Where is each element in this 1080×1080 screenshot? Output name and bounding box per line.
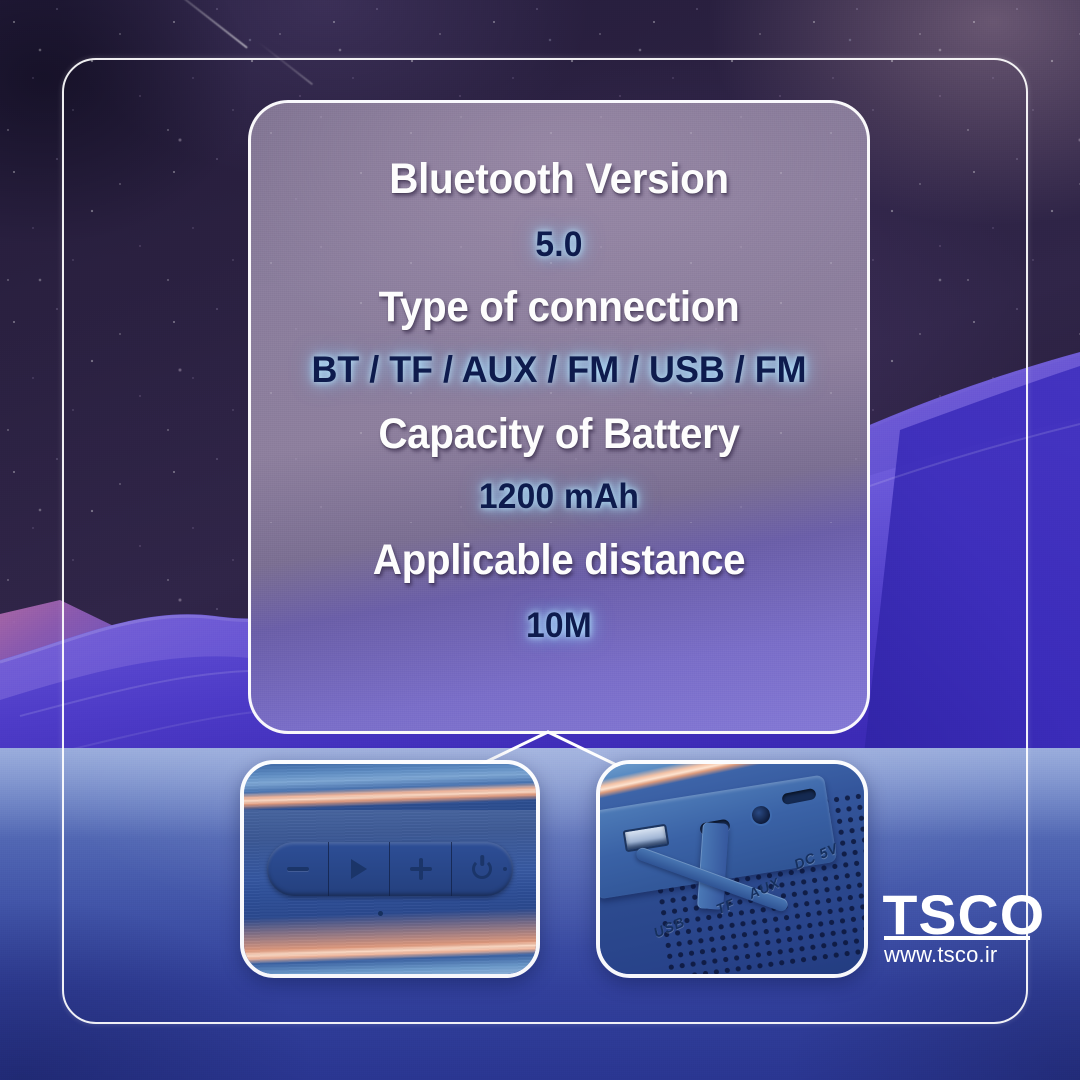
- spec-value-capacity-of-battery: 1200 mAh: [281, 479, 838, 516]
- logo-wordmark: TSCO: [883, 888, 1036, 942]
- minus-icon: [287, 867, 309, 871]
- photo-speaker-port-panel: USB TF AUX DC 5V: [596, 760, 868, 978]
- poster-canvas: Bluetooth Version 5.0 Type of connection…: [0, 0, 1080, 1080]
- spec-value-applicable-distance: 10M: [281, 608, 838, 645]
- spec-label-bluetooth-version: Bluetooth Version: [286, 157, 831, 203]
- photo-speaker-control-panel: [240, 760, 540, 978]
- brand-logo: TSCO www.tsco.ir: [884, 888, 1034, 968]
- volume-up-button[interactable]: [390, 842, 452, 897]
- power-icon: [472, 859, 492, 879]
- spec-label-capacity-of-battery: Capacity of Battery: [286, 412, 831, 458]
- specifications-panel: Bluetooth Version 5.0 Type of connection…: [248, 100, 870, 734]
- play-icon: [351, 859, 367, 879]
- speaker-button-cluster[interactable]: [267, 842, 512, 897]
- play-pause-button[interactable]: [329, 842, 391, 897]
- status-led-icon: [503, 867, 507, 871]
- spec-label-applicable-distance: Applicable distance: [286, 538, 831, 584]
- spec-value-type-of-connection: BT / TF / AUX / FM / USB / FM: [278, 351, 841, 390]
- volume-down-button[interactable]: [267, 842, 329, 897]
- spec-label-type-of-connection: Type of connection: [286, 285, 831, 331]
- power-button[interactable]: [452, 842, 513, 897]
- specifications-list: Bluetooth Version 5.0 Type of connection…: [251, 103, 867, 644]
- plus-icon: [410, 858, 432, 880]
- spec-value-bluetooth-version: 5.0: [281, 227, 838, 264]
